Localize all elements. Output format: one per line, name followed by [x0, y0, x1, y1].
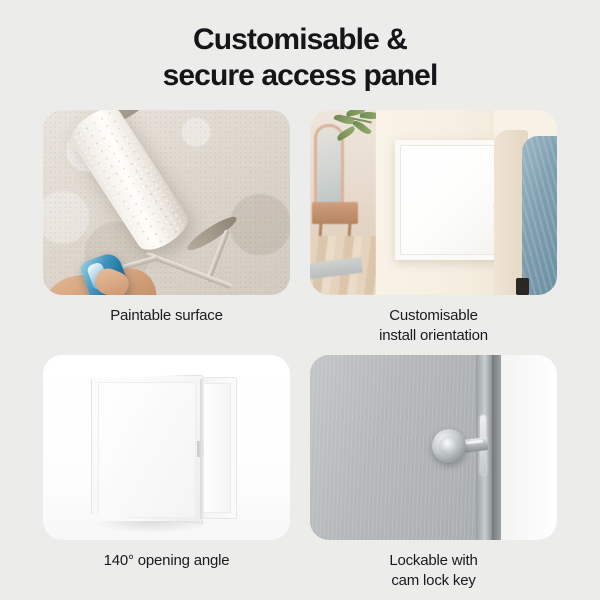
plant-leaf [336, 126, 357, 142]
feature-image-cam-lock [310, 355, 557, 540]
blue-wall-panel [522, 136, 557, 295]
feature-caption-install-orientation: Customisable install orientation [379, 306, 488, 347]
caption-line-2: cam lock key [389, 571, 477, 591]
feature-cell-cam-lock: Lockable with cam lock key [310, 355, 557, 592]
panel-drop-shadow [95, 521, 211, 533]
feature-image-install-orientation [310, 110, 557, 295]
feature-cell-opening-angle: 140° opening angle [43, 355, 290, 592]
panel-door-open [91, 375, 203, 525]
feature-image-paintable-surface [43, 110, 290, 295]
infographic-page: Customisable & secure access panel [0, 0, 600, 600]
panel-door-face [98, 382, 196, 518]
blue-panel-texture [522, 136, 557, 295]
feature-caption-opening-angle: 140° opening angle [104, 551, 230, 571]
panel-frame-inner [201, 383, 231, 513]
feature-cell-paintable-surface: Paintable surface [43, 110, 290, 347]
white-background-wall [501, 355, 557, 540]
feature-caption-paintable-surface: Paintable surface [110, 306, 223, 326]
feature-caption-cam-lock: Lockable with cam lock key [389, 551, 477, 592]
page-title: Customisable & secure access panel [0, 22, 600, 93]
feature-grid: Paintable surface [43, 110, 557, 591]
panel-gap [492, 355, 501, 540]
caption-line-1: Paintable surface [110, 306, 223, 326]
panel-lock-mechanism [197, 441, 204, 457]
feature-cell-install-orientation: Customisable install orientation [310, 110, 557, 347]
caption-line-1: 140° opening angle [104, 551, 230, 571]
caption-line-1: Lockable with [389, 551, 477, 571]
caption-line-1: Customisable [379, 306, 488, 326]
page-title-line-2: secure access panel [0, 58, 600, 94]
dark-accent-block [516, 278, 529, 295]
feature-image-opening-angle [43, 355, 290, 540]
access-panel-frame [395, 140, 505, 260]
cabinet [312, 202, 358, 224]
access-panel-door [400, 145, 500, 255]
page-title-line-1: Customisable & [0, 22, 600, 58]
cam-lock-keyhole-face [439, 436, 459, 456]
plant-icon [332, 110, 378, 148]
caption-line-2: install orientation [379, 326, 488, 346]
